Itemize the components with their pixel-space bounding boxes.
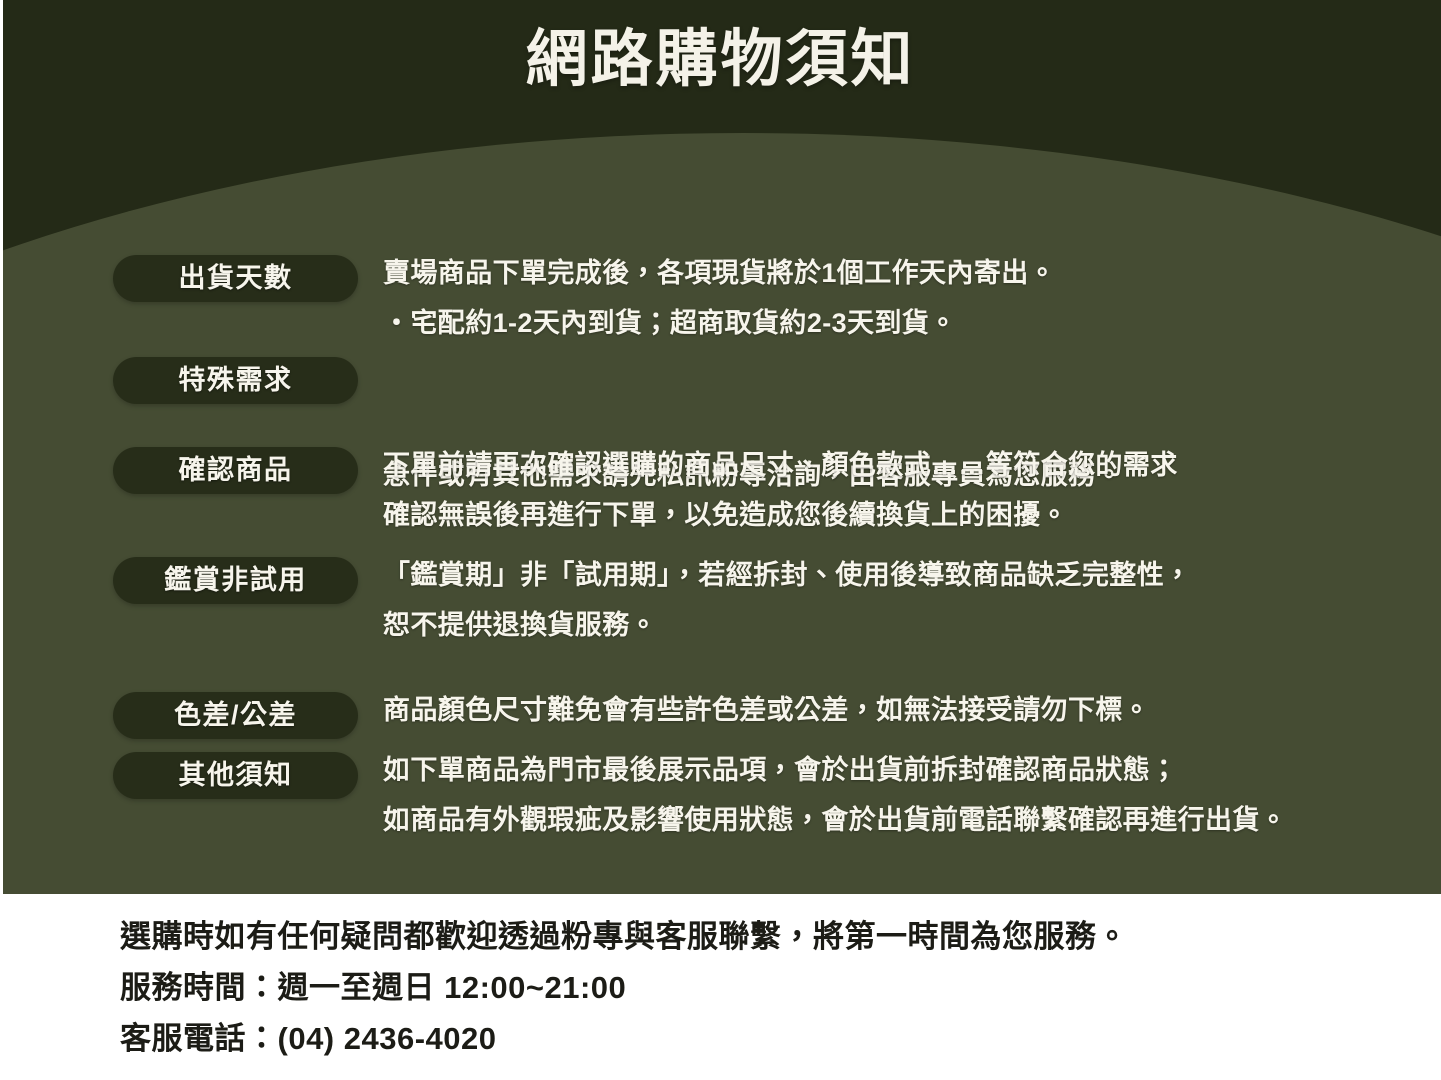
section-label-pill-2: 特殊需求 [113, 357, 358, 404]
section-body-4: 「鑑賞期」非「試用期」，若經拆封、使用後導致商品缺乏完整性，恕不提供退換貨服務。 [383, 550, 1423, 650]
section-label-text: 鑑賞非試用 [164, 567, 307, 594]
section-label-pill-4: 鑑賞非試用 [113, 557, 358, 604]
footer-line-phone: 客服電話：(04) 2436-4020 [120, 1023, 497, 1054]
section-body-line: 如商品有外觀瑕疵及影響使用狀態，會於出貨前電話聯繫確認再進行出貨。 [383, 795, 1423, 845]
section-body-line: 賣場商品下單完成後，各項現貨將於1個工作天內寄出。 [383, 248, 1423, 298]
footer-line-support: 選購時如有任何疑問都歡迎透過粉專與客服聯繫，將第一時間為您服務。 [120, 921, 1128, 952]
section-body-1: 賣場商品下單完成後，各項現貨將於1個工作天內寄出。・宅配約1-2天內到貨；超商取… [383, 248, 1423, 348]
section-label-text: 出貨天數 [179, 265, 293, 292]
section-body-line: 如下單商品為門市最後展示品項，會於出貨前拆封確認商品狀態； [383, 745, 1423, 795]
section-label-text: 特殊需求 [179, 367, 293, 394]
section-label-pill-1: 出貨天數 [113, 255, 358, 302]
section-body-line: 「鑑賞期」非「試用期」，若經拆封、使用後導致商品缺乏完整性， [383, 550, 1423, 600]
section-label-pill-6: 其他須知 [113, 752, 358, 799]
section-body-5: 商品顏色尺寸難免會有些許色差或公差，如無法接受請勿下標。 [383, 685, 1423, 735]
section-label-pill-3: 確認商品 [113, 447, 358, 494]
notice-page: 網路購物須知 出貨天數賣場商品下單完成後，各項現貨將於1個工作天內寄出。・宅配約… [0, 0, 1441, 1080]
section-body-line: 商品顏色尺寸難免會有些許色差或公差，如無法接受請勿下標。 [383, 685, 1423, 735]
section-body-line: 確認無誤後再進行下單，以免造成您後續換貨上的困擾。 [383, 490, 1423, 540]
section-label-pill-5: 色差/公差 [113, 692, 358, 739]
section-body-6: 如下單商品為門市最後展示品項，會於出貨前拆封確認商品狀態；如商品有外觀瑕疵及影響… [383, 745, 1423, 845]
footer-line-hours: 服務時間：週一至週日 12:00~21:00 [120, 972, 626, 1003]
notice-sections: 出貨天數賣場商品下單完成後，各項現貨將於1個工作天內寄出。・宅配約1-2天內到貨… [0, 0, 1441, 894]
section-body-3: 下單前請再次確認選購的商品尺寸、顏色款式……等符合您的需求確認無誤後再進行下單，… [383, 440, 1423, 540]
section-label-text: 其他須知 [179, 762, 293, 789]
section-label-text: 確認商品 [179, 457, 293, 484]
section-body-line: 下單前請再次確認選購的商品尺寸、顏色款式……等符合您的需求 [383, 440, 1423, 490]
section-body-line: 恕不提供退換貨服務。 [383, 600, 1423, 650]
footer-contact-block: 選購時如有任何疑問都歡迎透過粉專與客服聯繫，將第一時間為您服務。 服務時間：週一… [0, 894, 1441, 1080]
section-body-line: ・宅配約1-2天內到貨；超商取貨約2-3天到貨。 [383, 298, 1423, 348]
section-label-text: 色差/公差 [174, 702, 297, 729]
